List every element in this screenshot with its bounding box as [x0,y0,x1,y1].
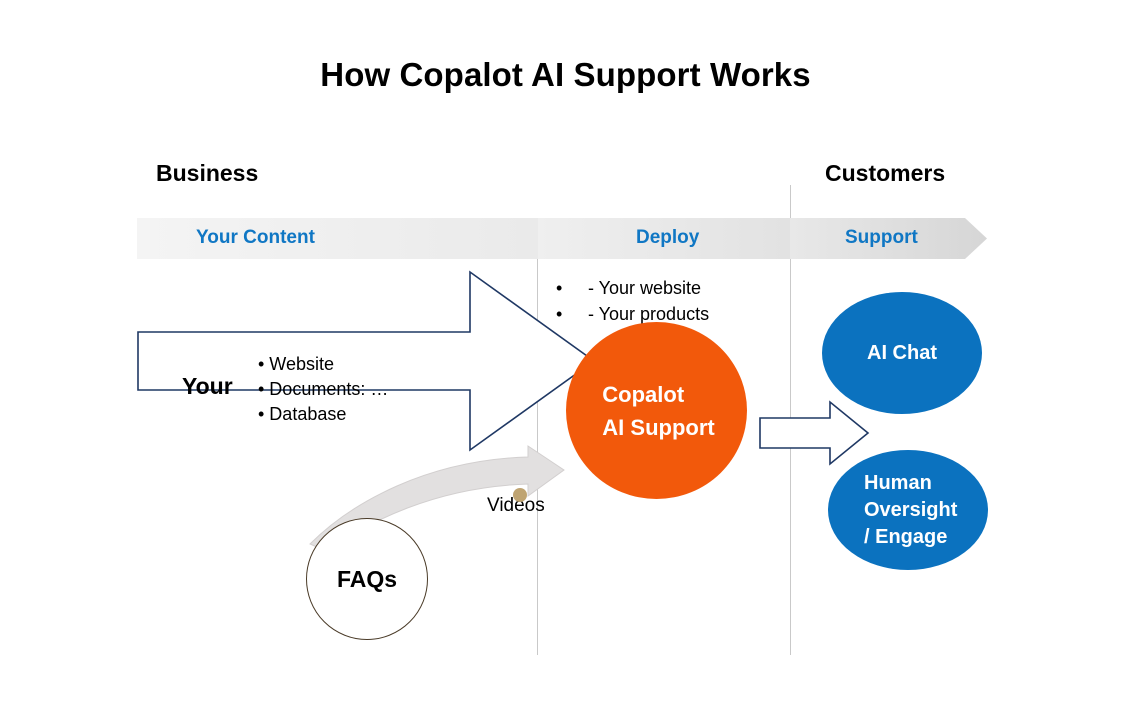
lane-heading-customers: Customers [825,160,945,187]
deploy-bullet-list: •- Your website •- Your products [556,275,709,327]
content-arrow-bullets: • Website • Documents: … • Database [258,352,388,427]
phase-label-deploy: Deploy [636,227,699,249]
outcome-ellipse-human-oversight: Human Oversight / Engage [828,450,988,570]
outcome-line: AI Chat [822,340,982,367]
content-arrow-heading: Your [182,373,233,400]
diagram-canvas: How Copalot AI Support Works Business Cu… [0,0,1131,709]
deploy-bullet-text: - Your products [588,304,709,324]
outcome-line: Oversight [864,497,988,524]
core-circle-label: Copalot AI Support [598,378,714,444]
core-label-line-1: Copalot [602,378,714,411]
core-label-line-2: AI Support [602,411,714,444]
core-circle-copalot: Copalot AI Support [566,322,747,499]
video-dot-icon [513,488,527,502]
bullet-glyph: • [556,301,588,327]
support-block-arrow [758,400,870,466]
source-label-faqs: FAQs [337,566,397,593]
outcome-line: Human [864,470,988,497]
outcome-ellipse-ai-chat: AI Chat [822,292,982,414]
content-bullet-item: • Website [258,352,388,377]
content-bullet-item: • Documents: … [258,377,388,402]
outcome-label-ai-chat: AI Chat [822,340,982,367]
source-circle-faqs: FAQs [306,518,428,640]
phase-label-your-content: Your Content [196,227,315,249]
page-title: How Copalot AI Support Works [0,56,1131,94]
phase-label-support: Support [845,227,918,249]
deploy-bullet-item: •- Your products [556,301,709,327]
bullet-glyph: • [556,275,588,301]
deploy-bullet-text: - Your website [588,278,701,298]
outcome-line: / Engage [864,524,988,551]
content-bullet-item: • Database [258,402,388,427]
faq-to-core-curved-arrow [388,448,578,548]
lane-heading-business: Business [156,160,258,187]
outcome-label-human-oversight: Human Oversight / Engage [828,470,988,551]
deploy-bullet-item: •- Your website [556,275,709,301]
